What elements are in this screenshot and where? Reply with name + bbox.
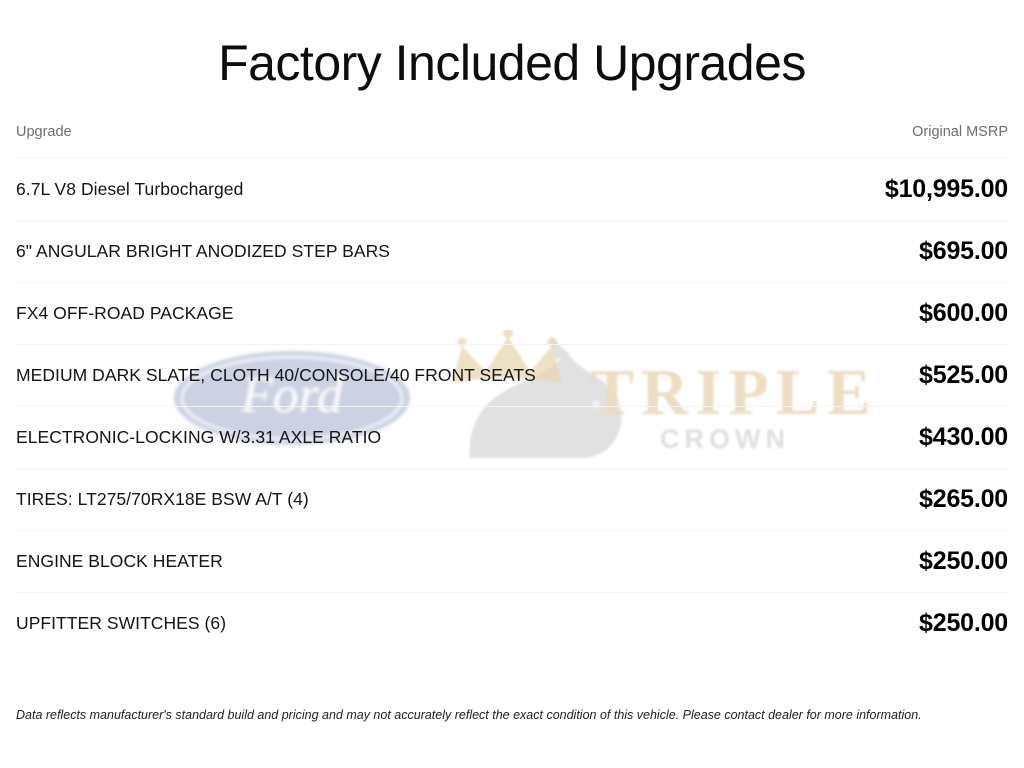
table-row: 6" ANGULAR BRIGHT ANODIZED STEP BARS$695… bbox=[16, 221, 1008, 283]
upgrade-name: FX4 OFF-ROAD PACKAGE bbox=[16, 283, 651, 345]
page-title: Factory Included Upgrades bbox=[0, 0, 1024, 88]
table-row: ENGINE BLOCK HEATER$250.00 bbox=[16, 531, 1008, 593]
upgrade-msrp-price: $600.00 bbox=[651, 283, 1008, 345]
upgrade-msrp-price: $250.00 bbox=[651, 593, 1008, 655]
table-row: ELECTRONIC-LOCKING W/3.31 AXLE RATIO$430… bbox=[16, 407, 1008, 469]
table-row: FX4 OFF-ROAD PACKAGE$600.00 bbox=[16, 283, 1008, 345]
table-header-row: Upgrade Original MSRP bbox=[16, 124, 1008, 159]
upgrade-name: TIRES: LT275/70RX18E BSW A/T (4) bbox=[16, 469, 651, 531]
table-row: 6.7L V8 Diesel Turbocharged$10,995.00 bbox=[16, 159, 1008, 221]
table-row: UPFITTER SWITCHES (6)$250.00 bbox=[16, 593, 1008, 655]
upgrade-name: ENGINE BLOCK HEATER bbox=[16, 531, 651, 593]
upgrade-name: MEDIUM DARK SLATE, CLOTH 40/CONSOLE/40 F… bbox=[16, 345, 651, 407]
upgrades-table: Upgrade Original MSRP 6.7L V8 Diesel Tur… bbox=[16, 124, 1008, 654]
upgrade-msrp-price: $695.00 bbox=[651, 221, 1008, 283]
upgrade-msrp-price: $265.00 bbox=[651, 469, 1008, 531]
column-header-msrp: Original MSRP bbox=[651, 124, 1008, 159]
upgrades-page: Factory Included Upgrades Ford bbox=[0, 0, 1024, 768]
upgrade-msrp-price: $525.00 bbox=[651, 345, 1008, 407]
table-row: MEDIUM DARK SLATE, CLOTH 40/CONSOLE/40 F… bbox=[16, 345, 1008, 407]
upgrade-msrp-price: $250.00 bbox=[651, 531, 1008, 593]
table-row: TIRES: LT275/70RX18E BSW A/T (4)$265.00 bbox=[16, 469, 1008, 531]
upgrades-table-container: Upgrade Original MSRP 6.7L V8 Diesel Tur… bbox=[16, 88, 1008, 654]
column-header-upgrade: Upgrade bbox=[16, 124, 651, 159]
table-body: 6.7L V8 Diesel Turbocharged$10,995.006" … bbox=[16, 159, 1008, 655]
upgrade-name: 6.7L V8 Diesel Turbocharged bbox=[16, 159, 651, 221]
upgrade-name: ELECTRONIC-LOCKING W/3.31 AXLE RATIO bbox=[16, 407, 651, 469]
disclaimer-note: Data reflects manufacturer's standard bu… bbox=[16, 708, 1008, 724]
upgrade-name: UPFITTER SWITCHES (6) bbox=[16, 593, 651, 655]
upgrade-msrp-price: $430.00 bbox=[651, 407, 1008, 469]
upgrade-msrp-price: $10,995.00 bbox=[651, 159, 1008, 221]
table-header: Upgrade Original MSRP bbox=[16, 124, 1008, 159]
upgrade-name: 6" ANGULAR BRIGHT ANODIZED STEP BARS bbox=[16, 221, 651, 283]
